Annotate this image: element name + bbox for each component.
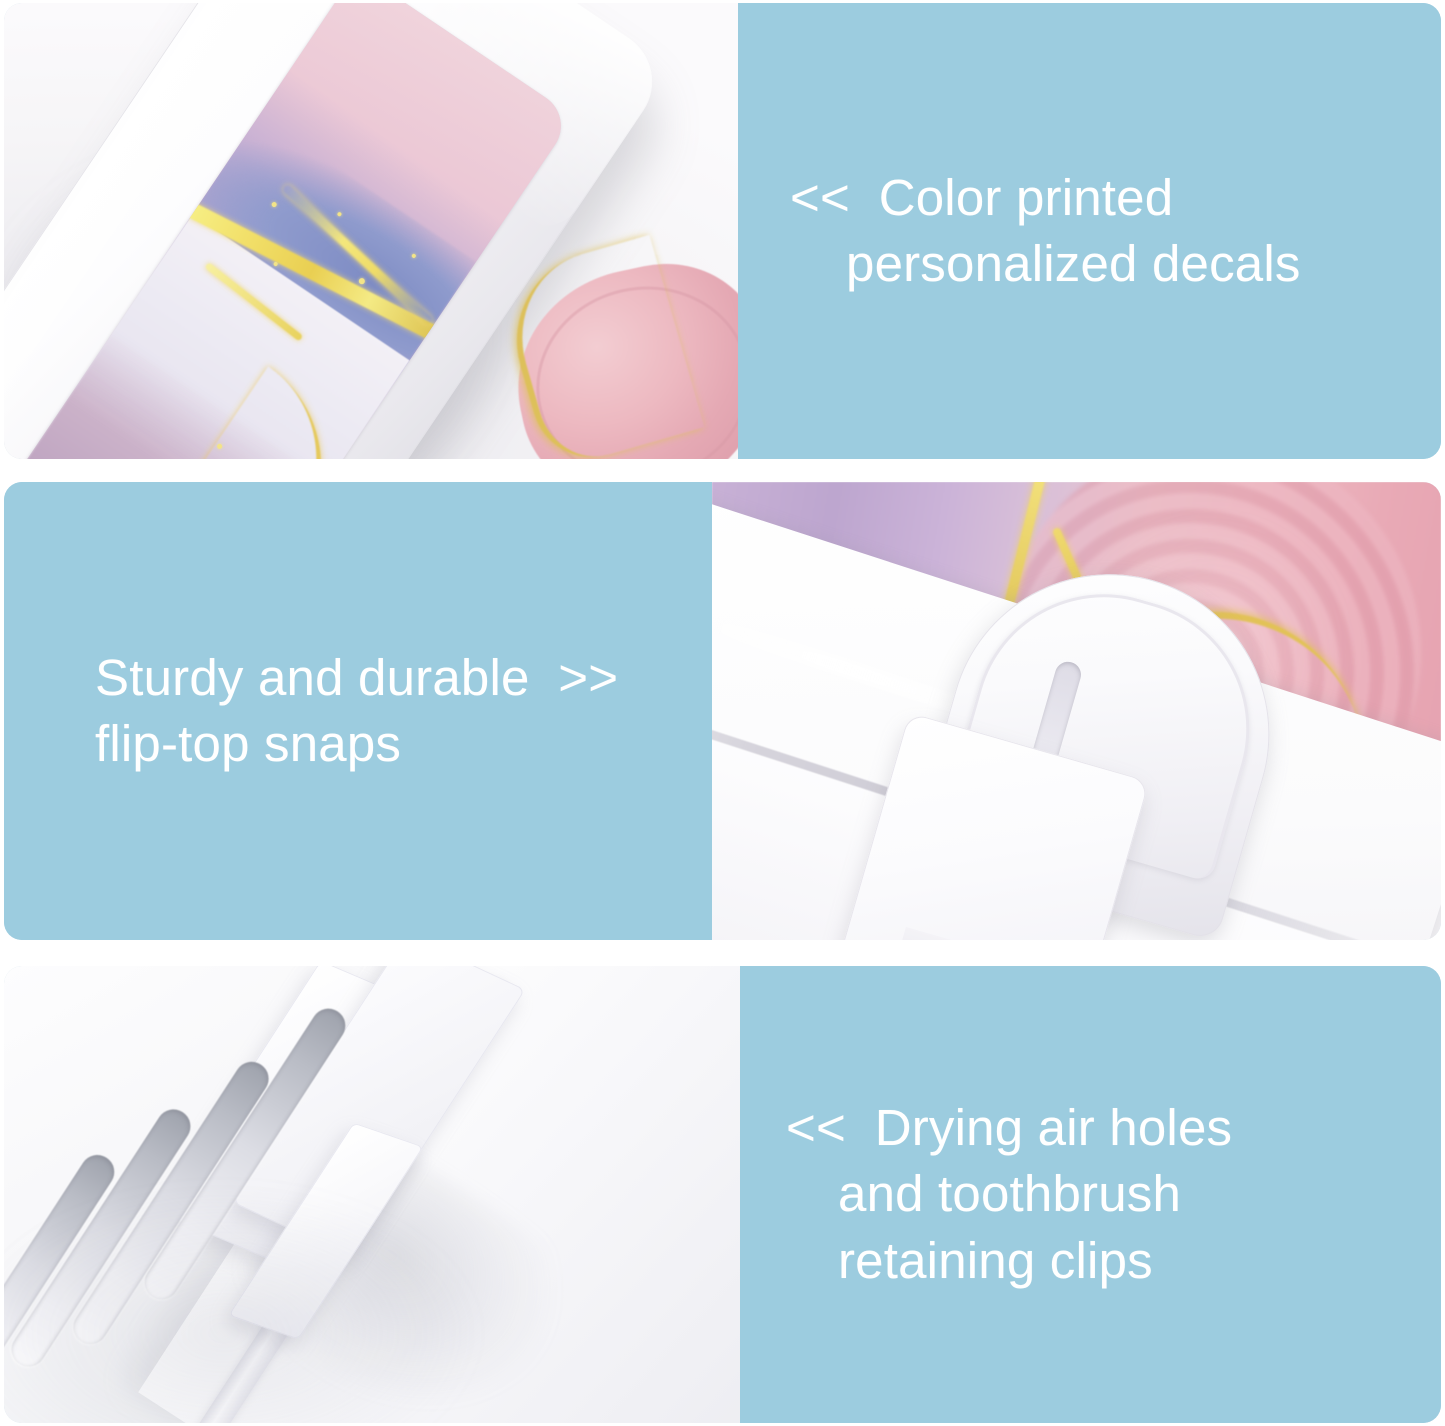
feature-panel-color-printed-decals: << Color printed personalized decals [4,3,1441,459]
infographic-sheet: << Color printed personalized decals Stu… [0,0,1445,1426]
caption-line: << Drying air holes [786,1095,1441,1161]
caption-air-holes-and-clips: << Drying air holes and toothbrush retai… [740,966,1441,1423]
feature-panel-flip-top-snaps: Sturdy and durable >> flip-top snaps [4,482,1441,940]
caption-line: << Color printed [790,165,1441,231]
caption-line: flip-top snaps [95,711,712,777]
caption-line: and toothbrush [786,1161,1441,1227]
caption-color-printed-decals: << Color printed personalized decals [738,3,1441,459]
feature-panel-air-holes-and-clips: << Drying air holes and toothbrush retai… [4,966,1441,1423]
product-photo-snap-latch [712,482,1441,940]
caption-line: personalized decals [790,231,1441,297]
caption-flip-top-snaps: Sturdy and durable >> flip-top snaps [4,482,712,940]
product-photo-decal [4,3,738,459]
caption-line: retaining clips [786,1228,1441,1294]
caption-line: Sturdy and durable >> [95,645,712,711]
product-photo-interior [4,966,740,1423]
photo-soft-shadow [4,1183,484,1423]
